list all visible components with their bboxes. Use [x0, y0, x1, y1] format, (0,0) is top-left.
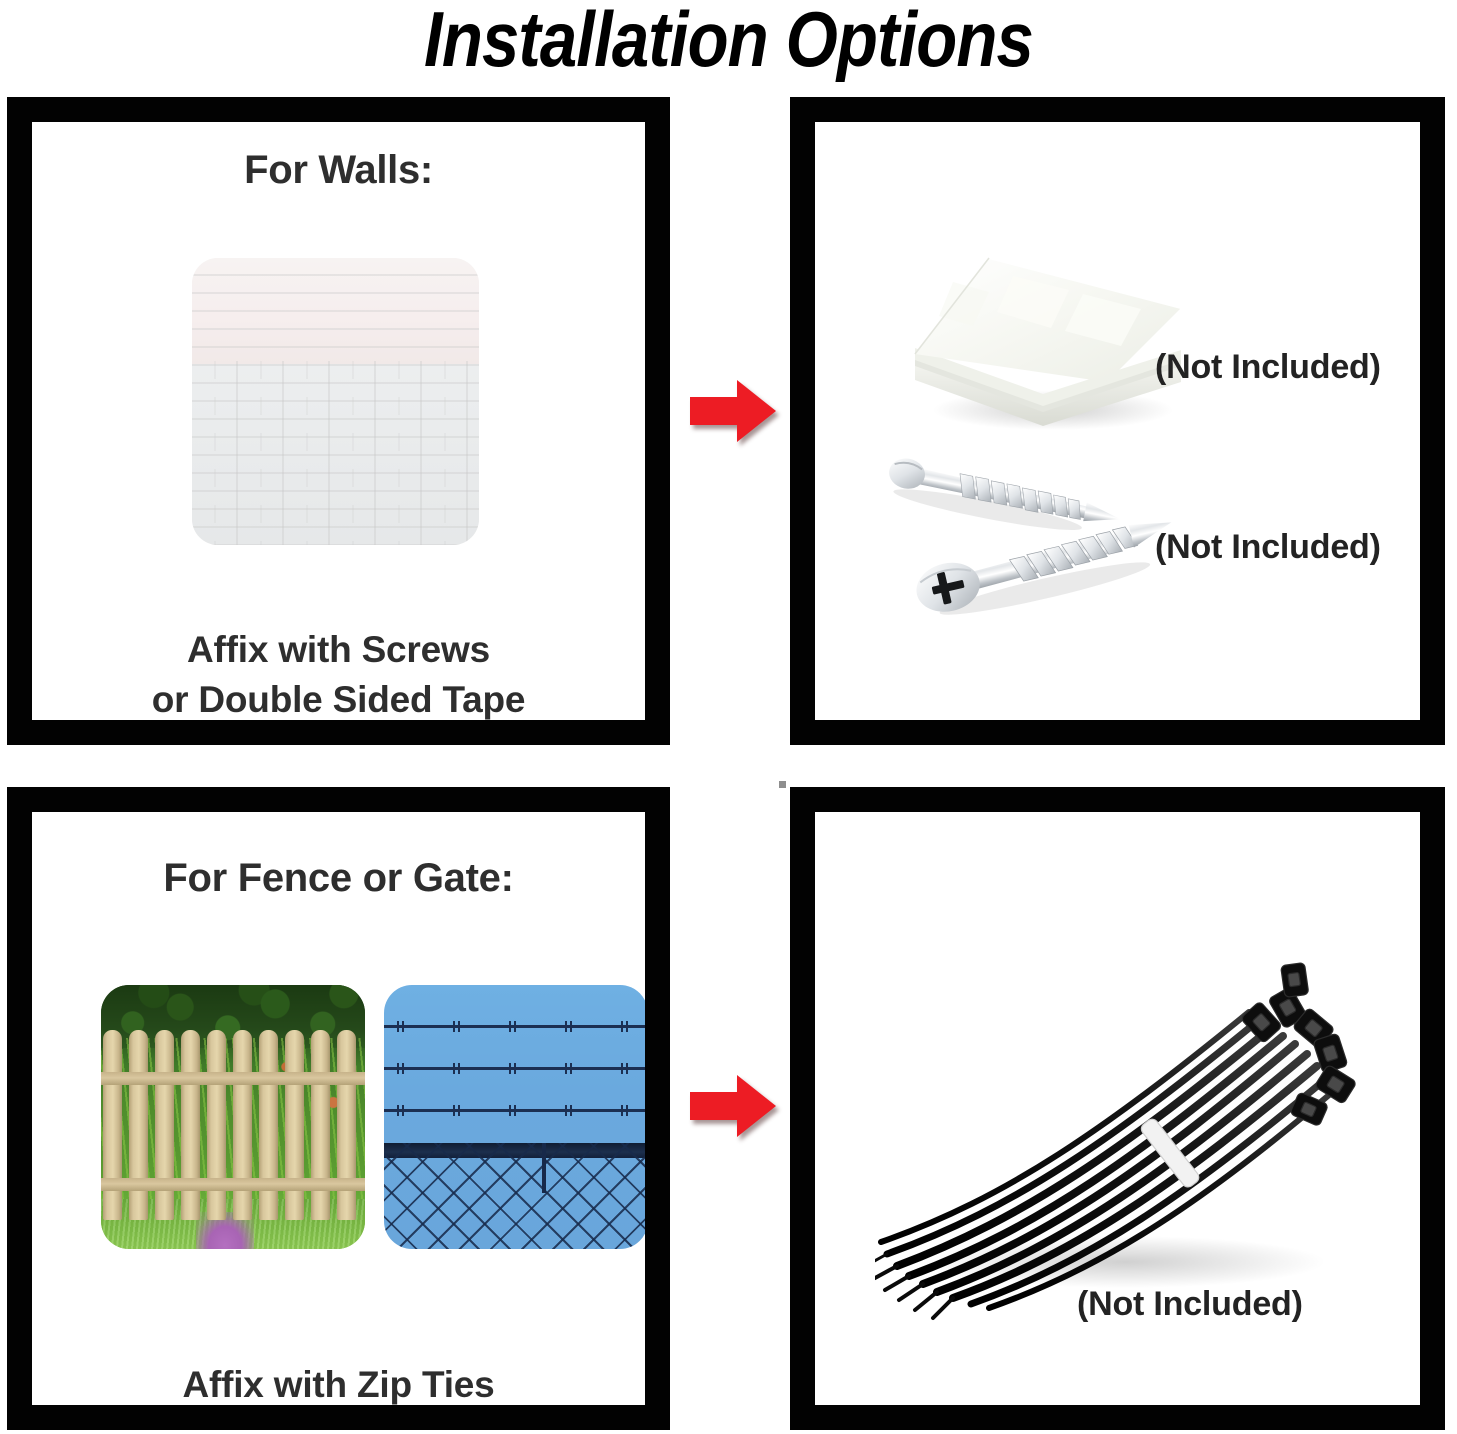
barbed-wire-strand: [384, 1067, 645, 1070]
panel-caption-walls: Affix with Screws or Double Sided Tape: [32, 625, 645, 720]
panel-hardware: (Not Included): [790, 97, 1445, 745]
caption-line-1: Affix with Screws: [32, 625, 645, 675]
panel-caption-fence: Affix with Zip Ties: [32, 1360, 645, 1405]
picket: [155, 1030, 174, 1220]
picket: [285, 1030, 304, 1220]
fence-pickets: [101, 1030, 365, 1220]
brick-offset-joints: [192, 361, 479, 545]
chain-link-mesh: [384, 1143, 645, 1249]
arrow-right-icon-bottom: [690, 1075, 776, 1137]
panel-zip-ties: (Not Included): [790, 787, 1445, 1430]
picket: [207, 1030, 226, 1220]
picket: [311, 1030, 330, 1220]
panel-for-fence-or-gate: For Fence or Gate:: [7, 787, 670, 1430]
caption-line-1: Affix with Zip Ties: [32, 1360, 645, 1405]
screws-not-included-label: (Not Included): [1155, 528, 1381, 567]
panel-heading-fence: For Fence or Gate:: [32, 856, 645, 901]
picket: [233, 1030, 252, 1220]
wooden-picket-fence-photo: [101, 985, 365, 1249]
barbed-wire-strand: [384, 1025, 645, 1028]
zip-ties-not-included-label: (Not Included): [1077, 1285, 1303, 1324]
scan-artifact-speck: [779, 781, 786, 788]
page-title: Installation Options: [102, 0, 1355, 82]
fence-post: [542, 1143, 546, 1193]
panel-zip-ties-inner: (Not Included): [815, 812, 1420, 1405]
picket: [259, 1030, 278, 1220]
panel-heading-walls: For Walls:: [32, 148, 645, 193]
fence-rail-lower: [101, 1178, 365, 1191]
picket: [181, 1030, 200, 1220]
installation-options-infographic: Installation Options For Walls: Affix wi…: [0, 0, 1457, 1434]
picket: [103, 1030, 122, 1220]
caption-line-2: or Double Sided Tape: [32, 675, 645, 720]
panel-for-walls: For Walls: Affix with Screws or Double S…: [7, 97, 670, 745]
tape-not-included-label: (Not Included): [1155, 348, 1381, 387]
double-sided-tape-stack-icon: [893, 242, 1193, 442]
panel-for-walls-inner: For Walls: Affix with Screws or Double S…: [32, 122, 645, 720]
panel-hardware-inner: (Not Included): [815, 122, 1420, 720]
black-zip-tie-bundle-icon: [875, 932, 1375, 1332]
barbed-wire-strand: [384, 1109, 645, 1112]
picket: [129, 1030, 148, 1220]
barbed-wire-chain-link-fence-photo: [384, 985, 645, 1249]
panel-for-fence-inner: For Fence or Gate:: [32, 812, 645, 1405]
white-brick-wall-swatch: [192, 258, 479, 545]
fence-rail-upper: [101, 1072, 365, 1085]
arrow-right-icon-top: [690, 380, 776, 442]
picket: [337, 1030, 356, 1220]
